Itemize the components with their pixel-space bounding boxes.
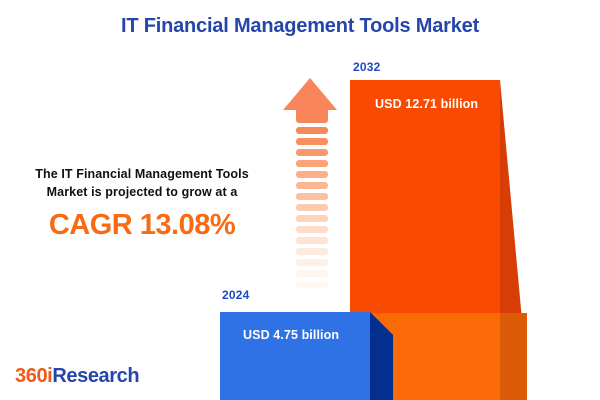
value-label-2032: USD 12.71 billion (375, 97, 478, 111)
arrow-head-icon (283, 78, 337, 110)
arrow-segment (296, 193, 328, 200)
arrow-segment (296, 127, 328, 134)
arrow-segment (296, 138, 328, 145)
arrow-segment (296, 281, 328, 288)
year-label-2032: 2032 (353, 60, 381, 74)
arrow-segment (296, 204, 328, 211)
arrow-segment (296, 248, 328, 255)
bar-2032-base-side-face (500, 313, 527, 400)
arrow-segment (296, 149, 328, 156)
cagr-lead-line-1: The IT Financial Management Tools (8, 165, 276, 183)
arrow-segment (296, 215, 328, 222)
growth-arrow-icon (283, 78, 341, 293)
arrow-segment (296, 259, 328, 266)
infographic-canvas: IT Financial Management Tools Market 203… (0, 0, 600, 400)
cagr-callout: The IT Financial Management Tools Market… (8, 165, 276, 242)
arrow-neck (296, 109, 328, 123)
arrow-segment (296, 171, 328, 178)
cagr-lead-line-2: Market is projected to grow at a (8, 183, 276, 201)
logo-research-text: Research (52, 365, 139, 387)
arrow-segment (296, 182, 328, 189)
logo-360i-text: 360i (15, 365, 52, 387)
page-title: IT Financial Management Tools Market (0, 15, 600, 38)
arrow-segment (296, 270, 328, 277)
brand-logo: 360iResearch (15, 365, 139, 388)
year-label-2024: 2024 (222, 288, 250, 302)
arrow-segment (296, 160, 328, 167)
bar-2024 (220, 312, 370, 400)
bar-2024-front-face (220, 312, 370, 400)
arrow-segment (296, 226, 328, 233)
cagr-value: CAGR 13.08% (8, 209, 276, 242)
arrow-segment (296, 237, 328, 244)
value-label-2024: USD 4.75 billion (243, 328, 339, 342)
